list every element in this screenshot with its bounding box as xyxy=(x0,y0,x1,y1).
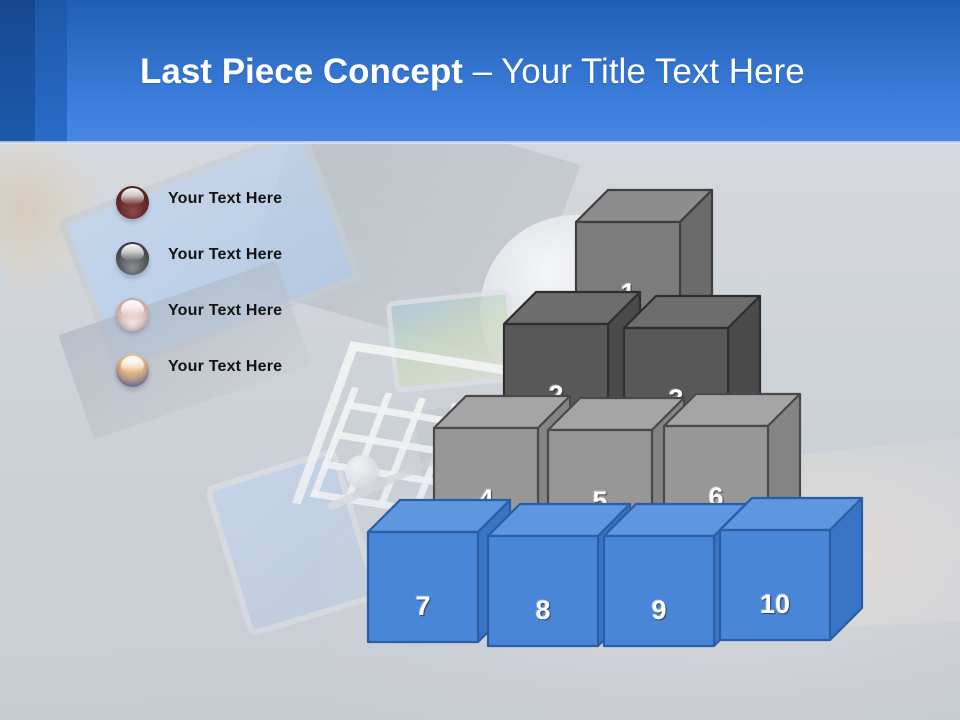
cube-pyramid-diagram: 12345678910 xyxy=(0,0,960,720)
cube-10[interactable]: 10 xyxy=(720,498,866,644)
presentation-slide: Last Piece Concept – Your Title Text Her… xyxy=(0,0,960,720)
cube-front-face xyxy=(720,530,830,640)
cube-front-face xyxy=(488,536,598,646)
cube-front-face xyxy=(368,532,478,642)
cube-front-face xyxy=(604,536,714,646)
